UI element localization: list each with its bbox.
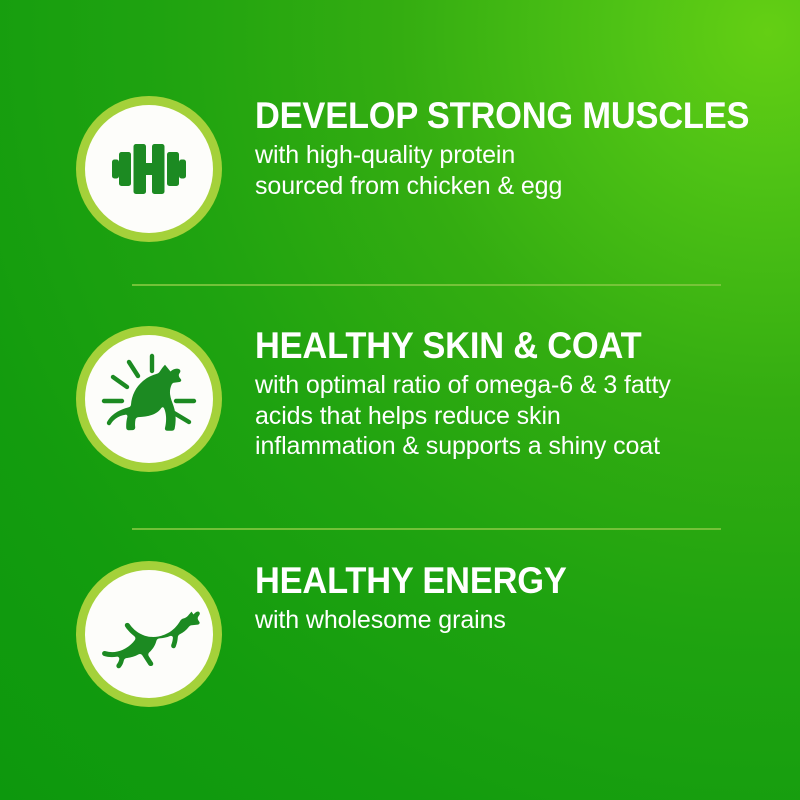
feature-body-line: acids that helps reduce skin	[255, 401, 760, 432]
feature-body: with high-quality protein sourced from c…	[255, 140, 787, 201]
feature-body-line: with high-quality protein	[255, 140, 787, 171]
feature-body-line: with wholesome grains	[255, 605, 760, 636]
feature-heading: HEALTHY SKIN & COAT	[255, 326, 725, 366]
feature-text-healthy-energy: HEALTHY ENERGY with wholesome grains	[222, 561, 800, 636]
shiny-sitting-dog-icon	[100, 353, 198, 445]
icon-badge-shiny-sitting-dog	[76, 326, 222, 472]
feature-heading: HEALTHY ENERGY	[255, 561, 725, 601]
icon-badge-leaping-dog	[76, 561, 222, 707]
feature-body-line: inflammation & supports a shiny coat	[255, 431, 760, 462]
feature-row-develop-strong-muscles: DEVELOP STRONG MUSCLES with high-quality…	[0, 96, 800, 242]
feature-row-healthy-energy: HEALTHY ENERGY with wholesome grains	[0, 561, 800, 707]
feature-body-line: with optimal ratio of omega-6 & 3 fatty	[255, 370, 760, 401]
divider-between-feature-1-and-2	[132, 284, 721, 286]
feature-body: with optimal ratio of omega-6 & 3 fatty …	[255, 370, 760, 462]
icon-badge-dumbbell	[76, 96, 222, 242]
divider-between-feature-2-and-3	[132, 528, 721, 530]
feature-text-healthy-skin-and-coat: HEALTHY SKIN & COAT with optimal ratio o…	[222, 326, 800, 462]
leaping-dog-icon	[97, 598, 201, 670]
dumbbell-icon	[106, 126, 192, 212]
feature-body: with wholesome grains	[255, 605, 760, 636]
feature-text-develop-strong-muscles: DEVELOP STRONG MUSCLES with high-quality…	[222, 96, 800, 201]
feature-row-healthy-skin-and-coat: HEALTHY SKIN & COAT with optimal ratio o…	[0, 326, 800, 472]
feature-heading: DEVELOP STRONG MUSCLES	[255, 96, 749, 136]
dog-food-benefits-panel: DEVELOP STRONG MUSCLES with high-quality…	[0, 0, 800, 800]
feature-body-line: sourced from chicken & egg	[255, 171, 787, 202]
